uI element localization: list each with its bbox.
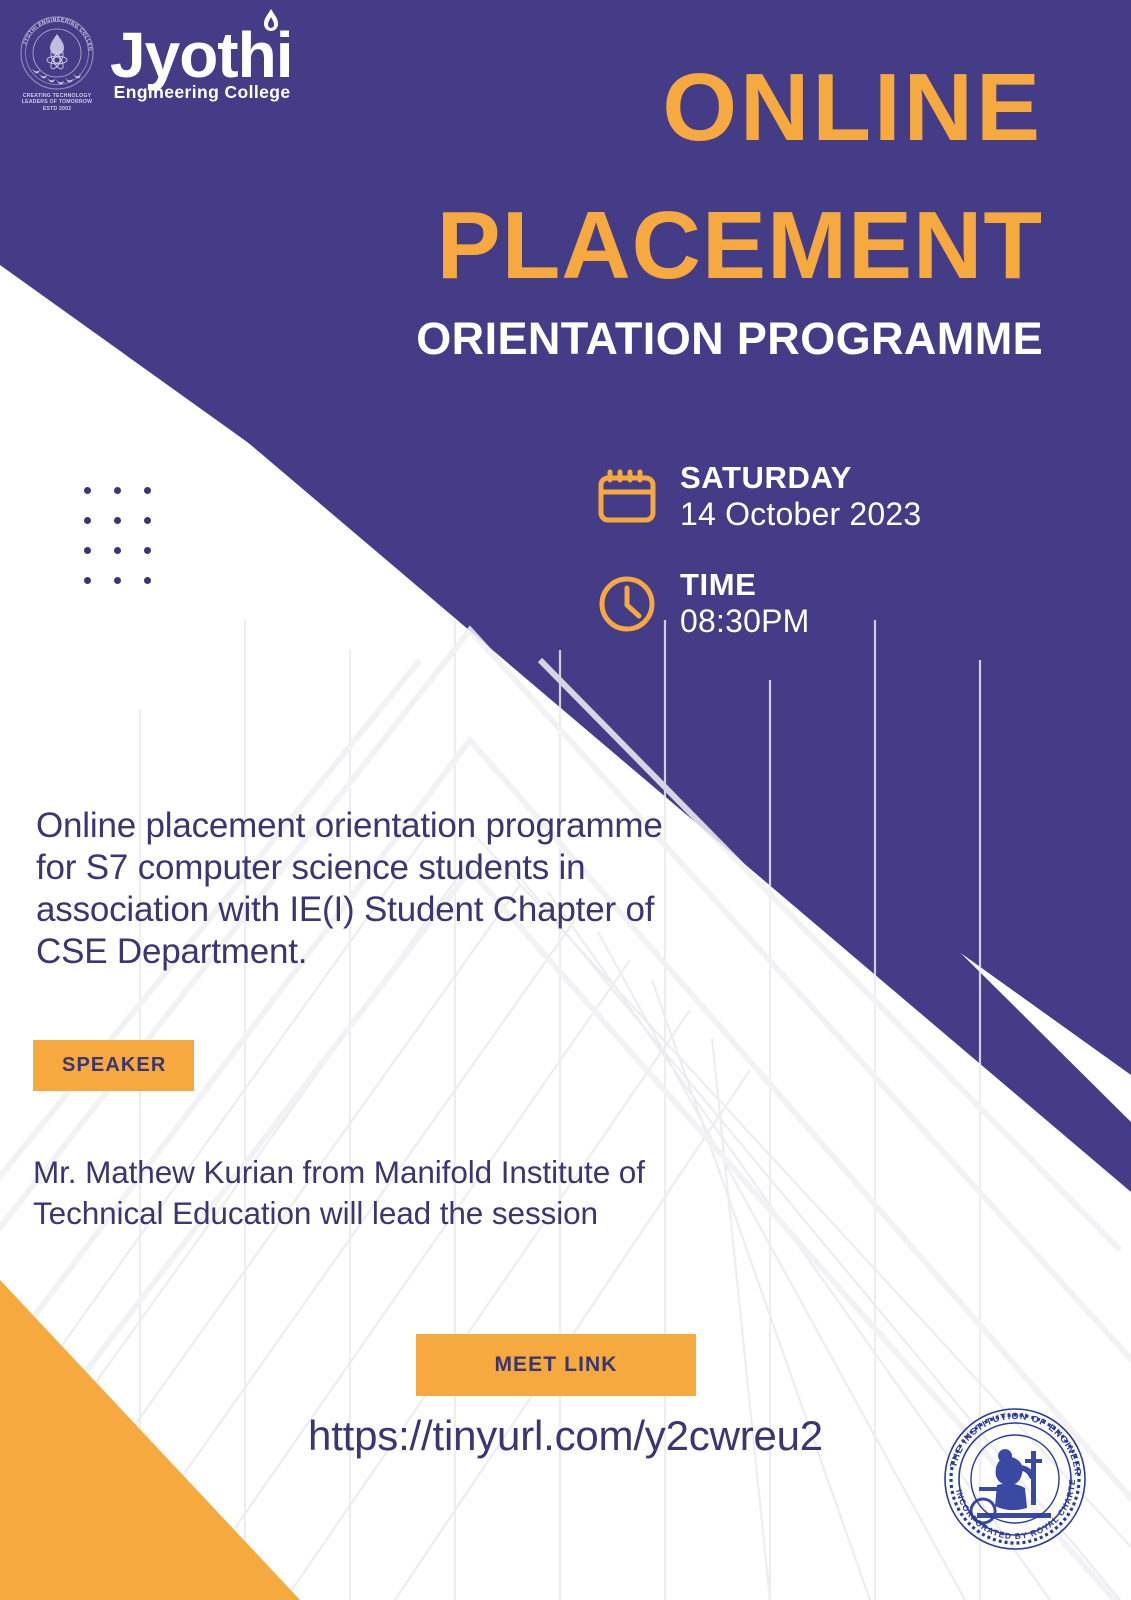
seal-tagline: CREATING TECHNOLOGY LEADERS OF TOMORROW …: [14, 93, 100, 112]
college-name: Jyothi: [110, 24, 292, 86]
institution-of-engineers-seal-icon: THE INSTITUTION OF ENGINEERS (INDIA) INC…: [939, 1403, 1091, 1555]
seal-tagline-line2: LEADERS OF TOMORROW: [22, 99, 93, 105]
grid-dot: [114, 577, 121, 584]
college-logo: JYOTHI ENGINEERING COLLEGE: [14, 10, 292, 112]
event-date-row: SATURDAY 14 October 2023: [596, 460, 921, 533]
meet-link-badge: MEET LINK: [416, 1334, 696, 1396]
speaker-badge: SPEAKER: [33, 1040, 194, 1091]
title-line-online: ONLINE: [283, 58, 1043, 158]
dot-grid-decoration: [84, 487, 174, 607]
seal-tagline-line1: CREATING TECHNOLOGY: [23, 93, 92, 99]
grid-dot: [84, 547, 91, 554]
event-time-value: 08:30PM: [680, 602, 809, 640]
event-date-value: 14 October 2023: [680, 495, 921, 533]
title-line-placement: PLACEMENT: [283, 194, 1043, 298]
grid-dot: [144, 517, 151, 524]
event-date-texts: SATURDAY 14 October 2023: [680, 460, 921, 533]
flame-icon: [260, 8, 282, 36]
event-time-texts: TIME 08:30PM: [680, 567, 809, 640]
seal-tagline-line3: ESTD 2002: [43, 106, 72, 112]
grid-dot: [144, 547, 151, 554]
page-title: ONLINE PLACEMENT ORIENTATION PROGRAMME: [283, 58, 1043, 366]
grid-dot: [144, 577, 151, 584]
clock-icon: [596, 573, 658, 635]
poster-canvas: JYOTHI ENGINEERING COLLEGE: [0, 0, 1131, 1600]
title-line-orientation-programme: ORIENTATION PROGRAMME: [283, 312, 1043, 366]
speaker-details: Mr. Mathew Kurian from Manifold Institut…: [33, 1152, 693, 1234]
event-meta: SATURDAY 14 October 2023 TIME 08:30PM: [596, 460, 921, 674]
college-wordmark: Jyothi Engineering College: [110, 10, 292, 103]
grid-dot: [84, 577, 91, 584]
event-time-row: TIME 08:30PM: [596, 567, 921, 640]
grid-dot: [114, 487, 121, 494]
event-day-label: SATURDAY: [680, 460, 921, 495]
calendar-icon: [596, 466, 658, 528]
college-seal-icon: JYOTHI ENGINEERING COLLEGE: [14, 10, 100, 112]
grid-dot: [114, 517, 121, 524]
event-description: Online placement orientation programme f…: [36, 805, 676, 973]
grid-dot: [114, 547, 121, 554]
grid-dot: [84, 517, 91, 524]
grid-dot: [84, 487, 91, 494]
event-time-label: TIME: [680, 567, 809, 602]
grid-dot: [144, 487, 151, 494]
